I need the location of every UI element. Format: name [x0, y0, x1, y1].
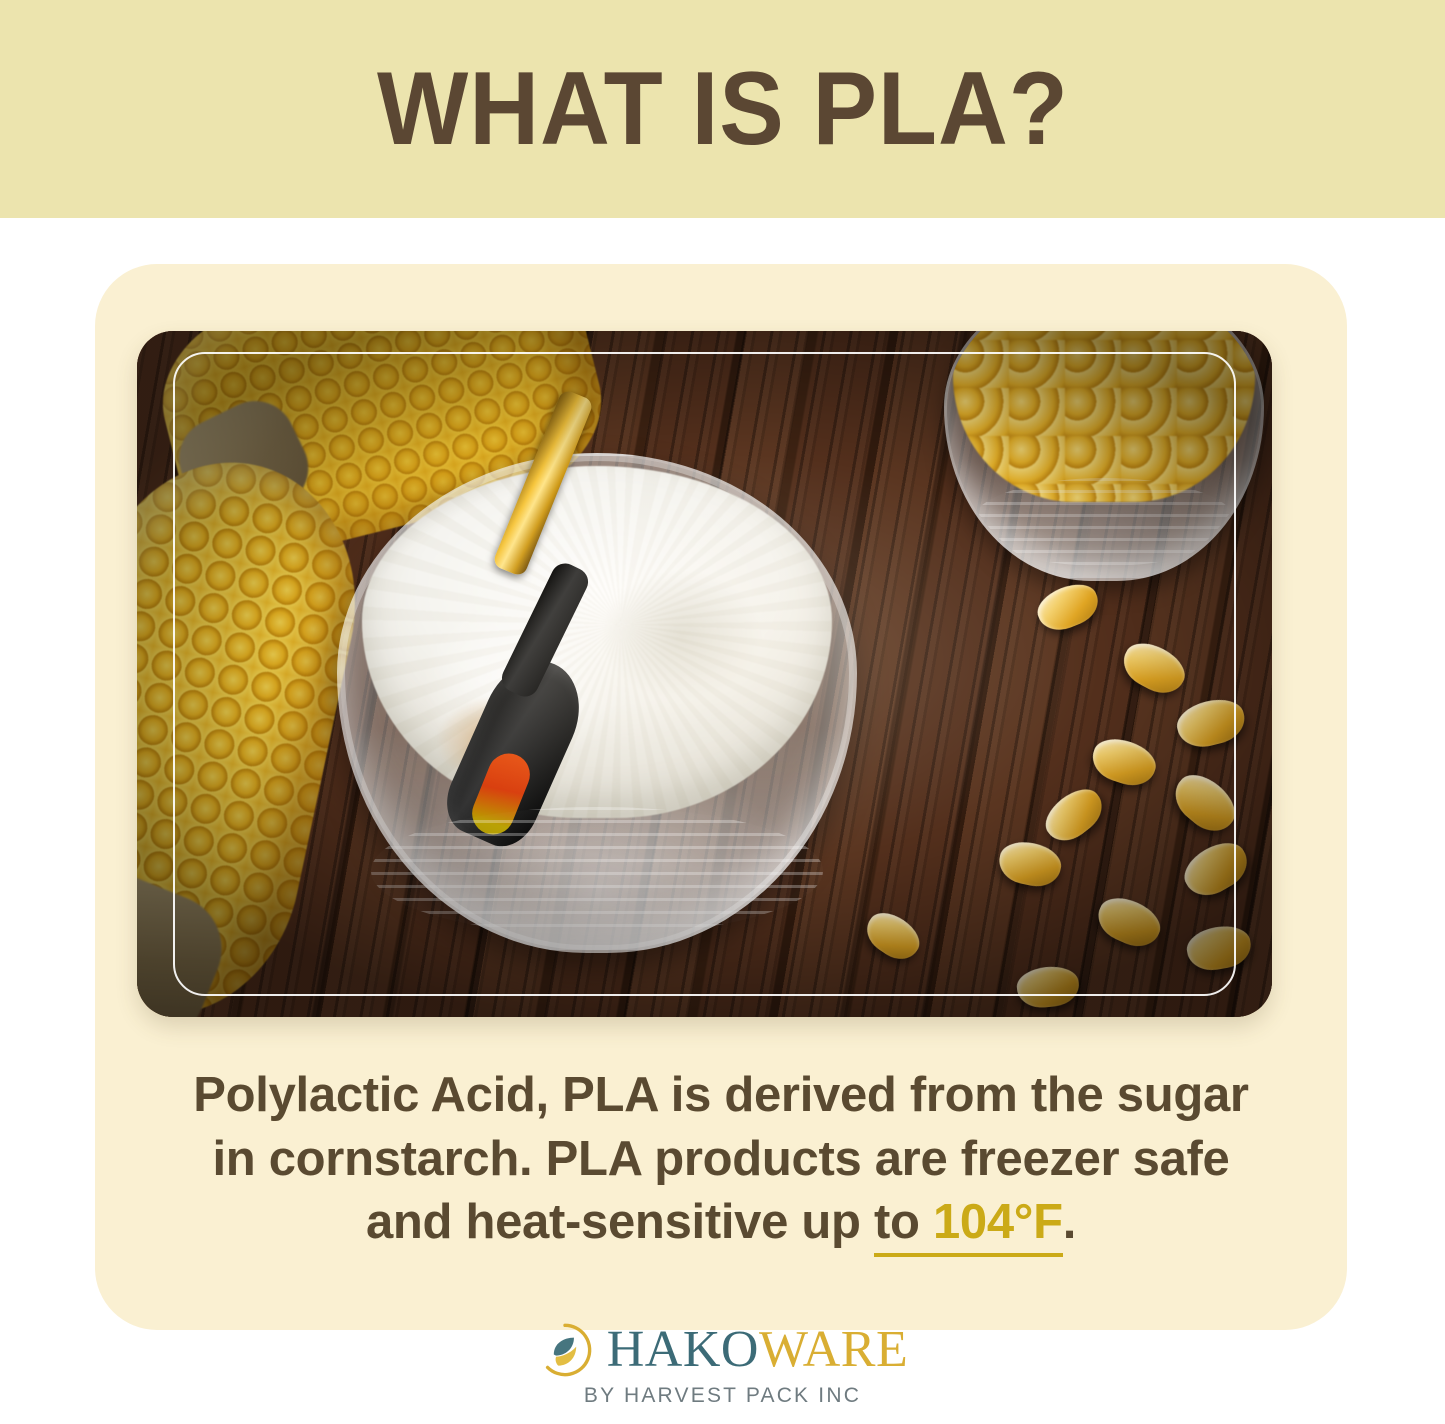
photo-vignette	[137, 331, 1272, 1017]
content-card: Polylactic Acid, PLA is derived from the…	[95, 264, 1347, 1330]
description-line-3-to: to	[874, 1195, 933, 1249]
description-line-3: and heat-sensitive up to 104°F.	[155, 1191, 1287, 1255]
description-text: Polylactic Acid, PLA is derived from the…	[155, 1064, 1287, 1255]
brand-tagline: BY HARVEST PACK INC	[584, 1384, 861, 1408]
description-line-1: Polylactic Acid, PLA is derived from the…	[155, 1064, 1287, 1128]
infographic-page: WHAT IS PLA?	[0, 0, 1445, 1424]
description-line-2: in cornstarch. PLA products are freezer …	[155, 1128, 1287, 1192]
brand-wordmark: HAKOWARE	[607, 1324, 909, 1376]
header-band: WHAT IS PLA?	[0, 0, 1445, 218]
brand-footer: HAKOWARE BY HARVEST PACK INC	[0, 1322, 1445, 1408]
hero-photo	[137, 331, 1272, 1017]
logo-row: HAKOWARE	[537, 1322, 909, 1378]
description-line-3-suffix: .	[1063, 1195, 1076, 1249]
description-line-3-underlined: to 104°F	[874, 1195, 1063, 1257]
brand-word-hako: HAKO	[607, 1321, 759, 1378]
temperature-highlight: 104°F	[933, 1195, 1063, 1249]
brand-word-ware: WARE	[759, 1321, 908, 1378]
page-title: WHAT IS PLA?	[377, 57, 1069, 161]
leaf-circle-icon	[537, 1322, 593, 1378]
description-line-3-prefix: and heat-sensitive up	[366, 1195, 874, 1249]
